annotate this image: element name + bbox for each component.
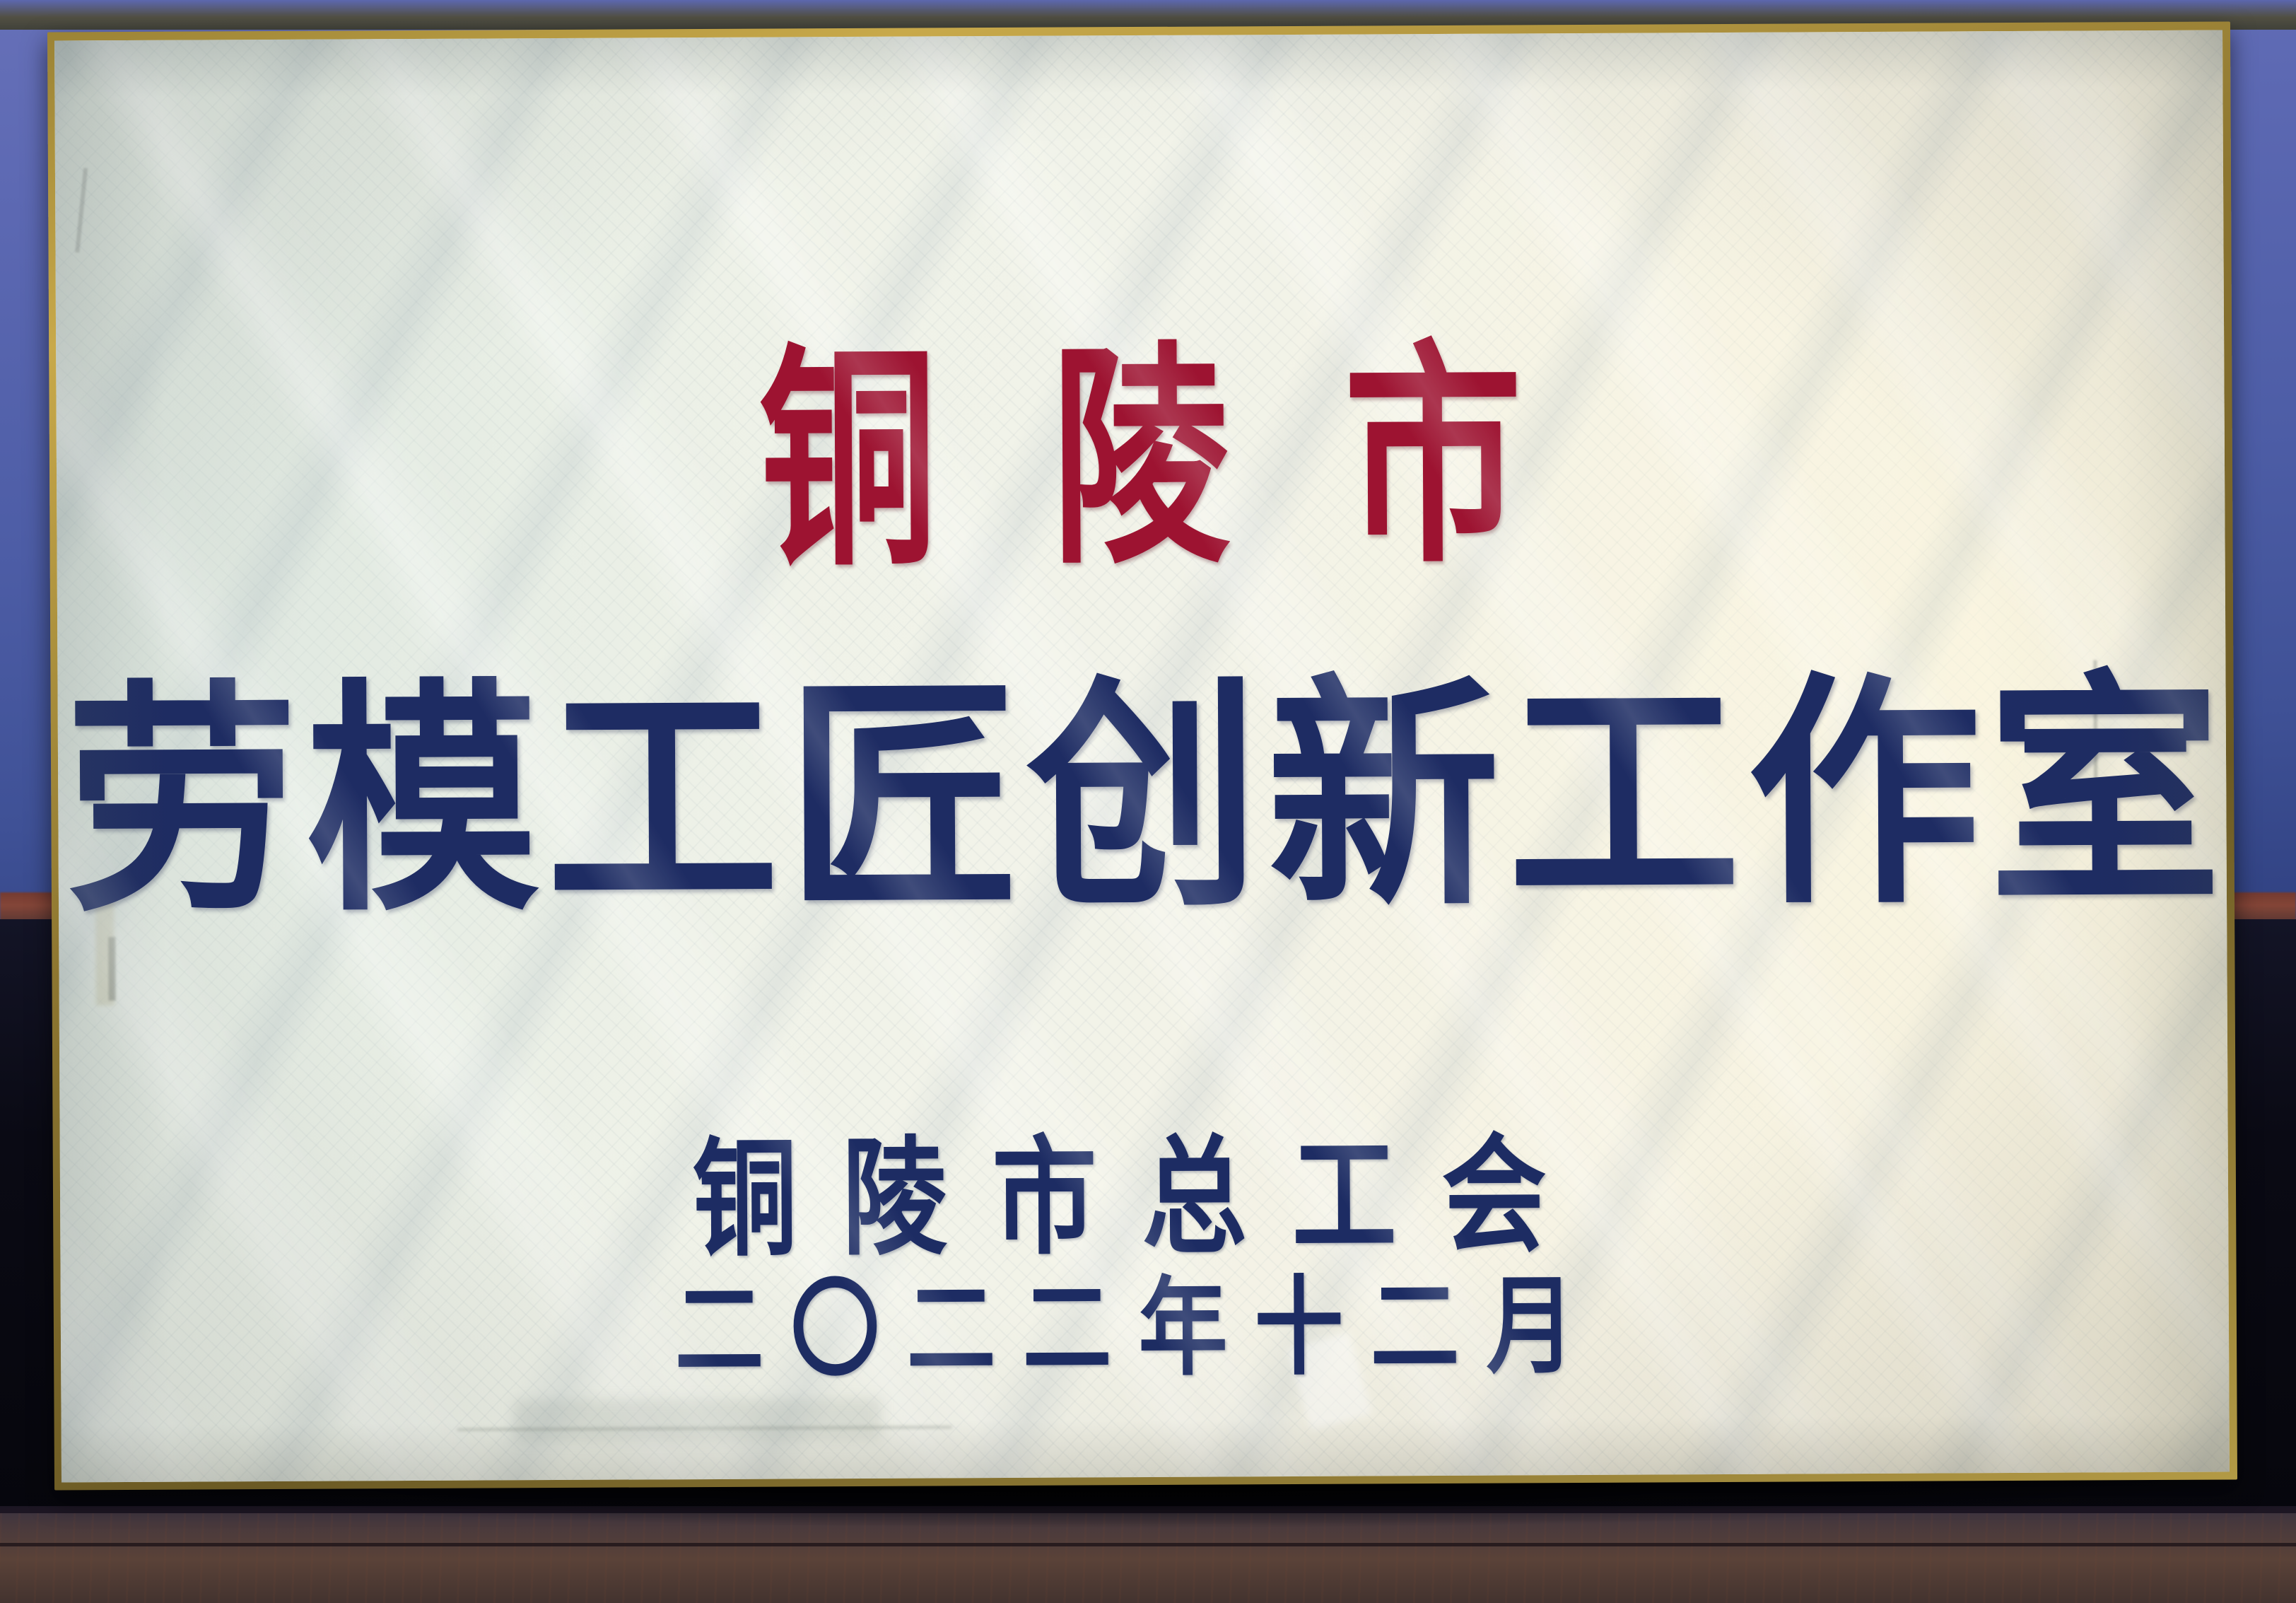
plaque-edge-shading bbox=[54, 30, 2230, 1483]
photo-scene: 铜陵市 劳模工匠创新工作室 铜陵市总工会 二〇二二年十二月 bbox=[0, 0, 2296, 1603]
floor-seam-line bbox=[0, 1543, 2296, 1546]
honor-plaque: 铜陵市 劳模工匠创新工作室 铜陵市总工会 二〇二二年十二月 bbox=[47, 21, 2237, 1490]
plaque-face: 铜陵市 劳模工匠创新工作室 铜陵市总工会 二〇二二年十二月 bbox=[54, 30, 2230, 1483]
